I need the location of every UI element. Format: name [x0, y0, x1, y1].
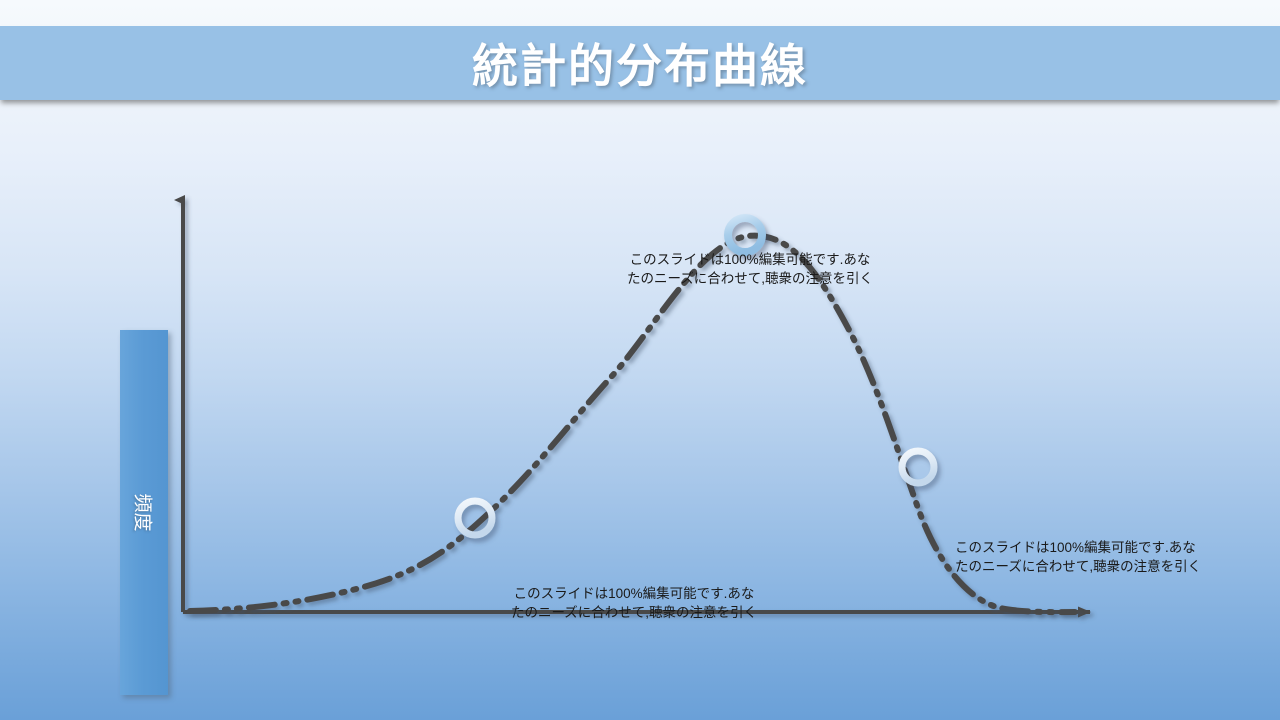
annotation-peak: このスライドは100%編集可能です.あなたのニーズに合わせて,聴衆の注意を引く — [625, 250, 875, 288]
annotation-left-tail: このスライドは100%編集可能です.あなたのニーズに合わせて,聴衆の注意を引く — [510, 584, 758, 622]
distribution-curve — [190, 236, 1075, 612]
y-axis-label: 頻度 — [130, 493, 157, 531]
chart-plot-area: 頻度 NEGATIVELY SKEWED (ネガティブに揺らぐ) このスライドは… — [0, 100, 1280, 720]
page-title: 統計的分布曲線 — [0, 26, 1280, 100]
annotation-right-tail: このスライドは100%編集可能です.あなたのニーズに合わせて,聴衆の注意を引く — [955, 538, 1205, 576]
y-axis-label-box: 頻度 — [120, 330, 168, 695]
slide-canvas: 統計的分布曲線 — [0, 0, 1280, 720]
marker-right-tail — [902, 451, 934, 483]
title-banner: 統計的分布曲線 — [0, 26, 1280, 100]
distribution-curve-svg — [0, 100, 1280, 720]
